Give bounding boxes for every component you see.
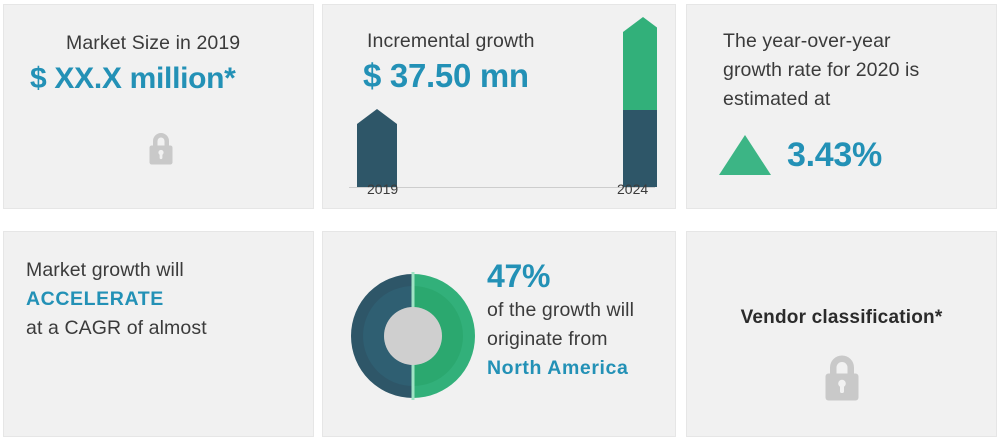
- axis-tick-2024: 2024: [617, 181, 648, 197]
- region-line-1: of the growth will: [487, 296, 634, 325]
- infographic-board: Market Size in 2019 $ XX.X million*: [0, 0, 1000, 441]
- bar-2024-growth: [623, 17, 657, 110]
- region-description: 47% of the growth will originate from No…: [487, 256, 634, 383]
- card-incremental-growth: Incremental growth $ 37.50 mn 2019 2024: [322, 4, 676, 209]
- axis-tick-2019: 2019: [367, 181, 398, 197]
- card-region-share: 47% of the growth will originate from No…: [322, 231, 676, 437]
- yoy-line-2: growth rate for 2020 is: [723, 56, 983, 85]
- bar-2019: [357, 109, 397, 187]
- incremental-growth-value: $ 37.50 mn: [363, 57, 529, 95]
- region-line-2: originate from: [487, 325, 634, 354]
- yoy-growth-readout: 3.43%: [717, 133, 882, 177]
- lock-icon: [818, 349, 866, 410]
- region-donut-chart: [349, 272, 477, 405]
- card-yoy-growth: The year-over-year growth rate for 2020 …: [686, 4, 997, 209]
- yoy-line-1: The year-over-year: [723, 27, 983, 56]
- cagr-description: Market growth will ACCELERATE at a CAGR …: [26, 256, 207, 343]
- region-name: North America: [487, 354, 634, 383]
- incremental-growth-label: Incremental growth: [367, 27, 535, 56]
- cagr-emphasis: ACCELERATE: [26, 285, 207, 314]
- card-market-size: Market Size in 2019 $ XX.X million*: [3, 4, 314, 209]
- bar-2024-base: [623, 110, 657, 187]
- cagr-line-3: at a CAGR of almost: [26, 314, 207, 343]
- card-vendor-classification: Vendor classification*: [686, 231, 997, 437]
- yoy-growth-label: The year-over-year growth rate for 2020 …: [723, 27, 983, 114]
- market-size-value: $ XX.X million*: [30, 62, 236, 96]
- card-cagr: Market growth will ACCELERATE at a CAGR …: [3, 231, 314, 437]
- triangle-up-icon: [717, 133, 773, 177]
- donut-center-hole: [384, 307, 442, 365]
- yoy-line-3: estimated at: [723, 85, 983, 114]
- region-percent: 47%: [487, 256, 634, 296]
- vendor-classification-title: Vendor classification*: [687, 307, 996, 329]
- yoy-growth-value: 3.43%: [787, 138, 882, 172]
- cagr-line-1: Market growth will: [26, 256, 207, 285]
- lock-icon: [144, 128, 178, 173]
- market-size-label: Market Size in 2019: [66, 29, 240, 58]
